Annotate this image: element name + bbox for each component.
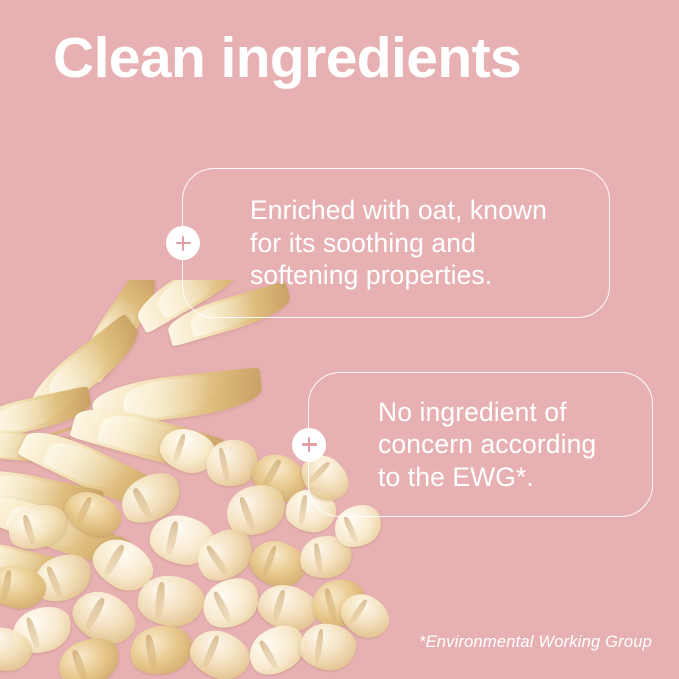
oat-flake [188, 520, 262, 591]
oat-flake [253, 579, 323, 638]
oat-flake [126, 621, 195, 679]
oat-flake [184, 622, 257, 679]
oat-spikelet [0, 426, 71, 465]
oat-flake [297, 620, 359, 673]
claim-card-text: Enriched with oat, known for its soothin… [250, 194, 547, 292]
claim-card-enriched-with-oat[interactable]: Enriched with oat, known for its soothin… [182, 168, 610, 318]
claim-card-no-ingredient-of-concern[interactable]: No ingredient of concern according to th… [308, 372, 653, 517]
oat-flake [85, 530, 162, 601]
oat-flake [52, 631, 125, 679]
oat-flake [136, 573, 207, 630]
oat-spikelet [20, 313, 147, 424]
oat-spikelet [0, 533, 82, 595]
oat-flake [155, 422, 221, 479]
product-claim-poster: Clean ingredients Enriched with oat, kno… [0, 0, 679, 679]
oat-flake [307, 574, 371, 632]
oat-flake [241, 616, 313, 679]
oat-spikelet [0, 462, 104, 524]
footnote: *Environmental Working Group [419, 633, 652, 652]
oat-flake [3, 499, 72, 556]
claim-card-text: No ingredient of concern according to th… [378, 396, 596, 494]
oat-spikelet [17, 420, 165, 518]
plus-icon[interactable] [292, 428, 326, 462]
page-title: Clean ingredients [53, 28, 521, 90]
oat-flake [0, 561, 49, 613]
plus-icon[interactable] [166, 226, 200, 260]
oat-flake [297, 533, 354, 582]
oat-spikelet [0, 386, 94, 442]
plus-icon-vertical-bar [308, 437, 311, 452]
oat-flake [113, 464, 188, 532]
oat-flake [64, 582, 143, 654]
oat-spikelet [69, 398, 224, 478]
oat-flake [333, 585, 397, 646]
oat-spikelet [72, 280, 166, 383]
oat-flake [146, 510, 219, 570]
oat-flake [244, 534, 312, 594]
plus-icon-vertical-bar [182, 236, 185, 251]
oat-stem [0, 406, 136, 461]
oat-flake [202, 435, 262, 491]
oat-flake [7, 600, 78, 660]
oat-spikelet [90, 367, 263, 427]
oat-flake [0, 622, 36, 677]
oat-flake [58, 484, 127, 544]
oat-flake [195, 570, 267, 637]
oat-spikelet [0, 485, 131, 575]
oat-flake [28, 547, 98, 610]
oat-stem [81, 396, 219, 423]
oat-flake [220, 477, 293, 543]
